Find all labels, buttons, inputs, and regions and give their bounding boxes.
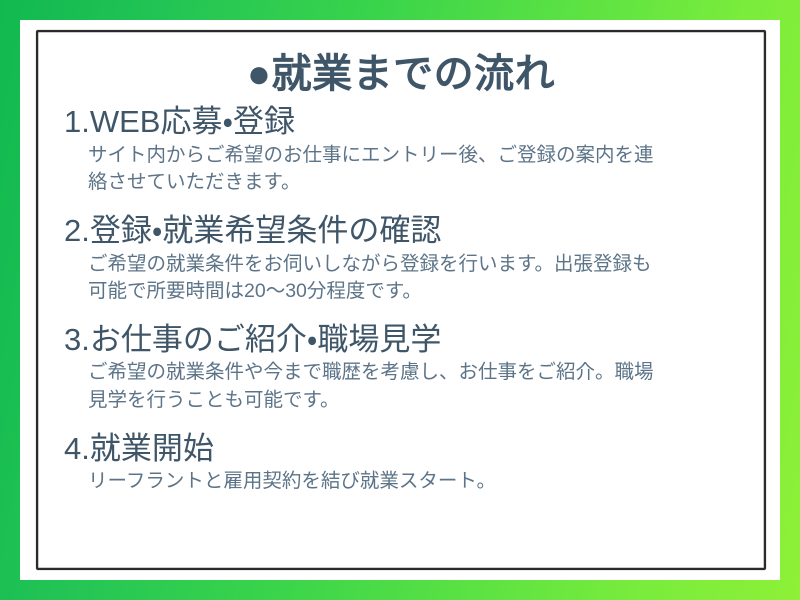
step-item: 4.就業開始 リーフラントと雇用契約を結び就業スタート。 <box>52 431 750 496</box>
step-body-line: 絡させていただきます。 <box>88 169 746 197</box>
step-body-line: リーフラントと雇用契約を結び就業スタート。 <box>88 468 746 496</box>
step-item: 1.WEB応募・登録 サイト内からご希望のお仕事にエントリー後、ご登録の案内を連… <box>52 104 750 197</box>
step-body-line: ご希望の就業条件や今まで職歴を考慮し、お仕事をご紹介。職場 <box>88 359 746 387</box>
step-body-line: 見学を行うことも可能です。 <box>88 387 746 415</box>
poster-root: ●就業までの流れ 1.WEB応募・登録 サイト内からご希望のお仕事にエントリー後… <box>0 0 800 600</box>
step-body: ご希望の就業条件をお伺いしながら登録を行います。出張登録も 可能で所要時間は20… <box>52 251 750 306</box>
step-heading: 1.WEB応募・登録 <box>52 104 750 141</box>
step-item: 3.お仕事のご紹介・職場見学 ご希望の就業条件や今まで職歴を考慮し、お仕事をご紹… <box>52 322 750 415</box>
inner-frame: ●就業までの流れ 1.WEB応募・登録 サイト内からご希望のお仕事にエントリー後… <box>36 30 766 570</box>
step-heading: 3.お仕事のご紹介・職場見学 <box>52 322 750 359</box>
step-body-line: サイト内からご希望のお仕事にエントリー後、ご登録の案内を連 <box>88 142 746 170</box>
step-body-line: ご希望の就業条件をお伺いしながら登録を行います。出張登録も <box>88 251 746 279</box>
step-heading: 2.登録・就業希望条件の確認 <box>52 213 750 250</box>
white-mat: ●就業までの流れ 1.WEB応募・登録 サイト内からご希望のお仕事にエントリー後… <box>20 20 780 580</box>
step-body: ご希望の就業条件や今まで職歴を考慮し、お仕事をご紹介。職場 見学を行うことも可能… <box>52 359 750 414</box>
step-body: リーフラントと雇用契約を結び就業スタート。 <box>52 468 750 496</box>
step-item: 2.登録・就業希望条件の確認 ご希望の就業条件をお伺いしながら登録を行います。出… <box>52 213 750 306</box>
page-title: ●就業までの流れ <box>52 54 750 94</box>
step-body: サイト内からご希望のお仕事にエントリー後、ご登録の案内を連 絡させていただきます… <box>52 142 750 197</box>
step-heading: 4.就業開始 <box>52 431 750 468</box>
step-body-line: 可能で所要時間は20〜30分程度です。 <box>88 278 746 306</box>
